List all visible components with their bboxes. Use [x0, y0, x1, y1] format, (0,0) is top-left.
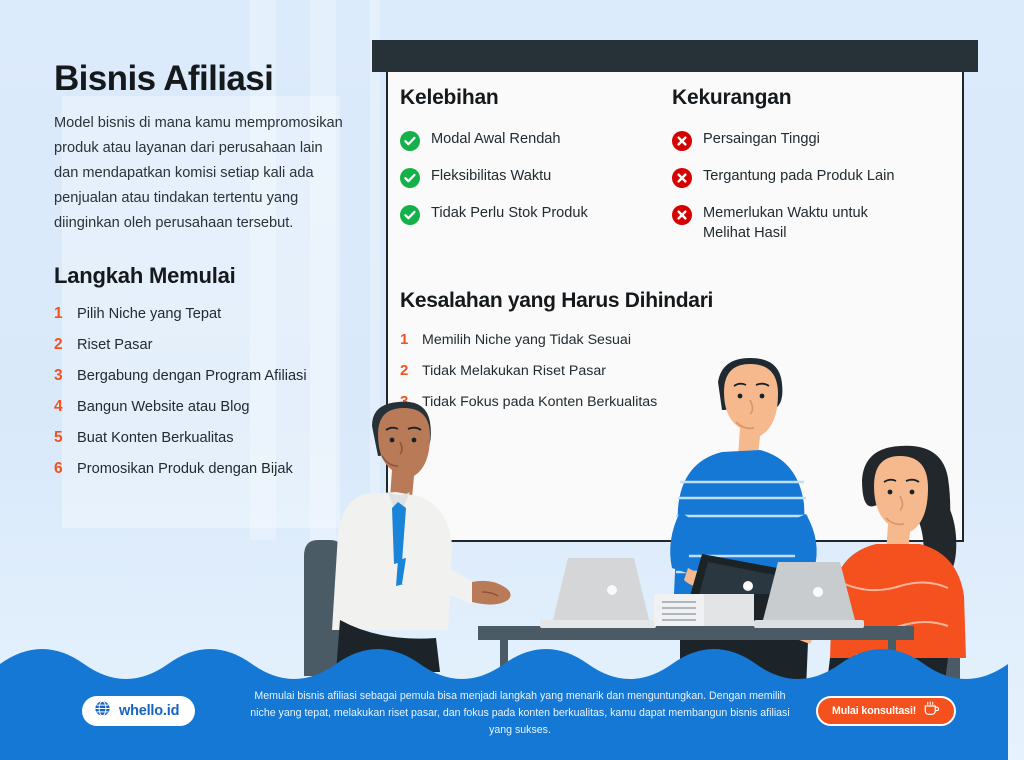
pros-heading: Kelebihan: [400, 86, 672, 110]
cons-column: Kekurangan Persaingan Tinggi Tergantung …: [672, 86, 956, 259]
list-item: Tergantung pada Produk Lain: [672, 167, 956, 188]
pros-item-label: Tidak Perlu Stok Produk: [431, 204, 588, 224]
start-consultation-button[interactable]: Mulai konsultasi!: [816, 696, 956, 726]
cons-heading: Kekurangan: [672, 86, 956, 110]
coffee-cup-icon: [923, 701, 940, 721]
intro-paragraph: Model bisnis di mana kamu mempromosikan …: [54, 111, 346, 236]
step-label: Pilih Niche yang Tepat: [77, 306, 221, 322]
list-item: 1 Pilih Niche yang Tepat: [54, 305, 346, 323]
mistakes-heading: Kesalahan yang Harus Dihindari: [400, 289, 956, 313]
x-circle-icon: [672, 205, 692, 225]
infographic-canvas: Bisnis Afiliasi Model bisnis di mana kam…: [0, 0, 1024, 760]
brand-logo[interactable]: whello.id: [82, 696, 195, 726]
check-circle-icon: [400, 131, 420, 151]
steps-heading: Langkah Memulai: [54, 263, 346, 289]
list-item: Modal Awal Rendah: [400, 130, 672, 151]
cons-list: Persaingan Tinggi Tergantung pada Produk…: [672, 130, 956, 243]
cta-label: Mulai konsultasi!: [832, 705, 916, 717]
whiteboard-header-bar: [372, 40, 978, 72]
x-circle-icon: [672, 131, 692, 151]
pros-cons-columns: Kelebihan Modal Awal Rendah Fleksibilita…: [400, 86, 956, 259]
step-number: 1: [54, 305, 66, 323]
globe-icon: [94, 700, 111, 722]
cons-item-label: Tergantung pada Produk Lain: [703, 167, 895, 187]
pros-item-label: Fleksibilitas Waktu: [431, 167, 551, 187]
papers-on-desk: [654, 594, 754, 626]
cons-item-label: Memerlukan Waktu untuk Melihat Hasil: [703, 204, 891, 243]
check-circle-icon: [400, 205, 420, 225]
check-circle-icon: [400, 168, 420, 188]
list-item: Fleksibilitas Waktu: [400, 167, 672, 188]
shirt-left-man: [332, 492, 452, 630]
pros-item-label: Modal Awal Rendah: [431, 130, 561, 150]
pros-list: Modal Awal Rendah Fleksibilitas Waktu Ti…: [400, 130, 672, 225]
head-center-man: [724, 364, 778, 456]
x-circle-icon: [672, 168, 692, 188]
list-item: Memerlukan Waktu untuk Melihat Hasil: [672, 204, 956, 243]
list-item: Persaingan Tinggi: [672, 130, 956, 151]
list-item: Tidak Perlu Stok Produk: [400, 204, 672, 225]
footer-paragraph: Memulai bisnis afiliasi sebagai pemula b…: [250, 688, 790, 739]
cons-item-label: Persaingan Tinggi: [703, 130, 820, 150]
footer: whello.id Memulai bisnis afiliasi sebaga…: [0, 652, 1024, 760]
head-right-woman: [874, 456, 928, 554]
pros-column: Kelebihan Modal Awal Rendah Fleksibilita…: [400, 86, 672, 259]
brand-name: whello.id: [119, 703, 179, 719]
laptop-left: [540, 558, 656, 628]
head-left-man: [378, 408, 430, 498]
page-title: Bisnis Afiliasi: [54, 60, 346, 97]
